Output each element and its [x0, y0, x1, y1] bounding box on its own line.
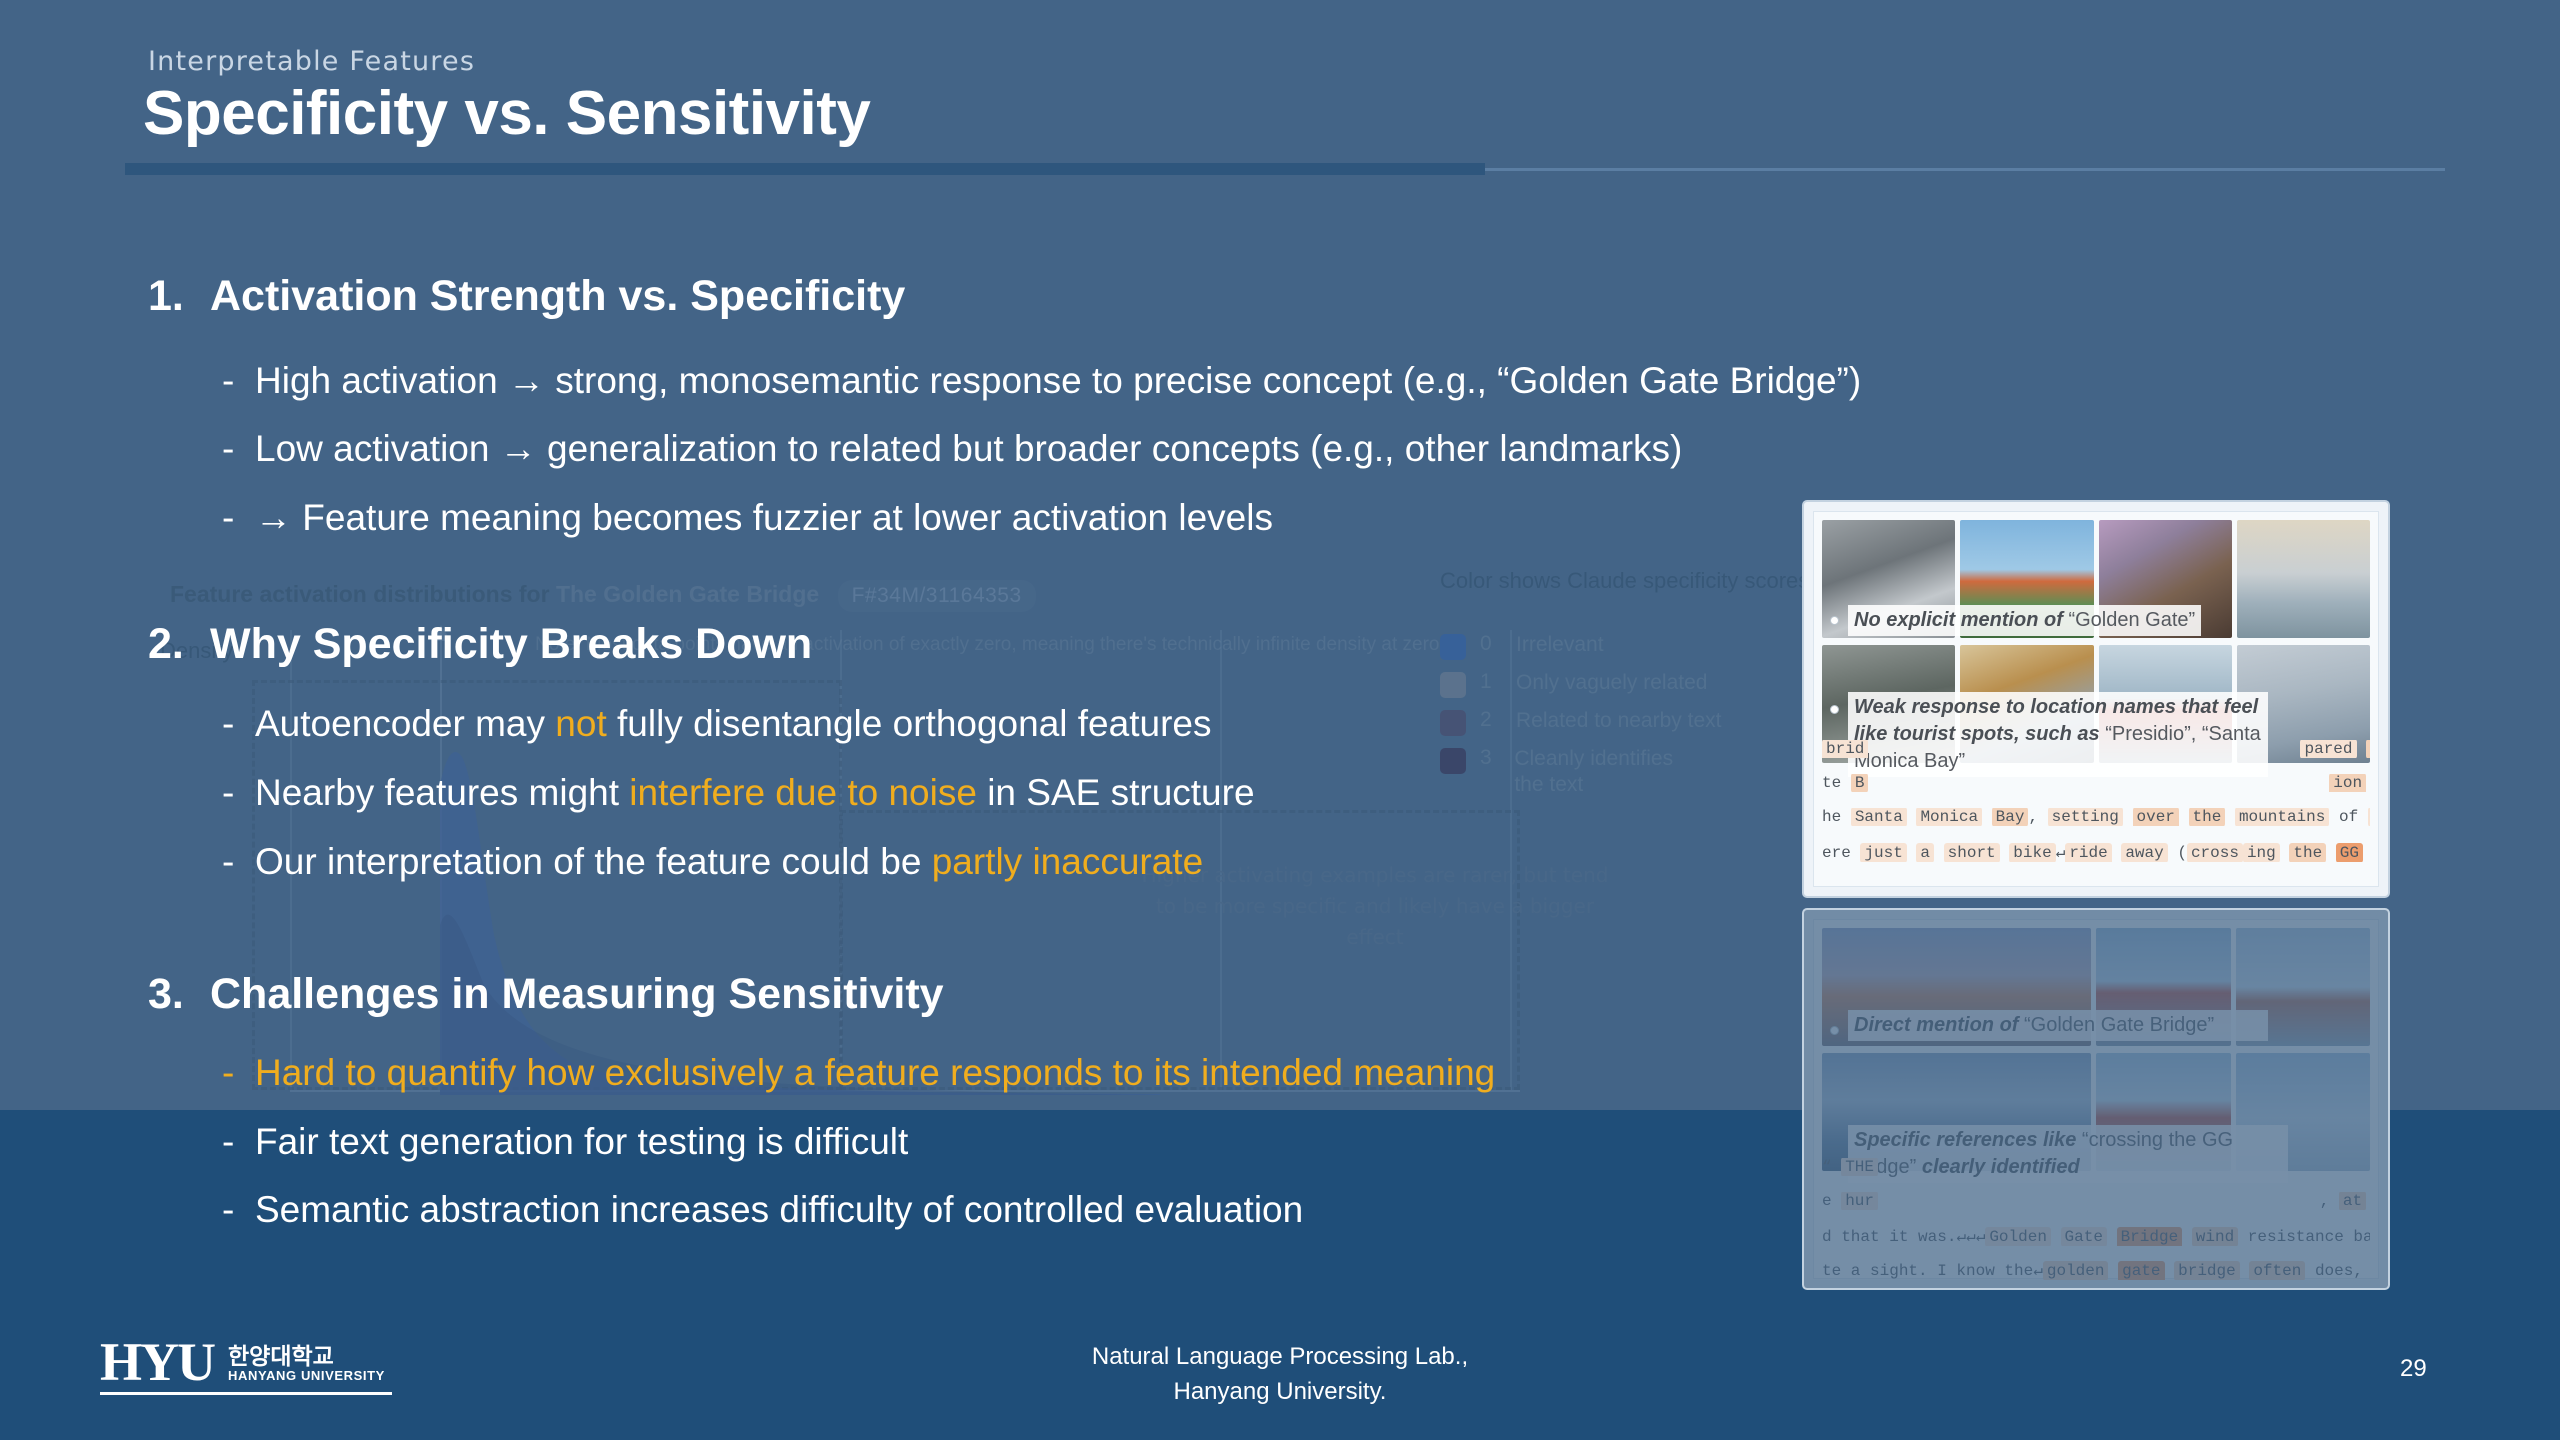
bullet-text-2: in SAE structure — [977, 772, 1255, 813]
bullet-dash: - — [222, 497, 255, 539]
bullet-dash: - — [222, 1121, 255, 1163]
slide-body: 1.Activation Strength vs. Specificity -H… — [0, 0, 2560, 1440]
bullet-text: Autoencoder may — [255, 703, 555, 744]
section-heading-1: 1.Activation Strength vs. Specificity — [148, 272, 905, 321]
bullet-1-3: -→ Feature meaning becomes fuzzier at lo… — [222, 497, 1273, 539]
bullet-text: Hard to quantify how exclusively a featu… — [255, 1052, 1495, 1093]
bullet-text: Low activation → generalization to relat… — [255, 428, 1682, 469]
section-number-3: 3. — [148, 970, 210, 1019]
section-title-2: Why Specificity Breaks Down — [210, 620, 812, 668]
bullet-1-2: -Low activation → generalization to rela… — [222, 428, 1682, 470]
bullet-highlight: interfere due to noise — [629, 772, 977, 813]
bullet-2-2: -Nearby features might interfere due to … — [222, 772, 1255, 814]
bullet-text: Semantic abstraction increases difficult… — [255, 1189, 1303, 1230]
bullet-highlight: partly inaccurate — [932, 841, 1203, 882]
bullet-text: Fair text generation for testing is diff… — [255, 1121, 908, 1162]
slide-header: Interpretable Features Specificity vs. S… — [0, 0, 2560, 180]
bullet-text: → Feature meaning becomes fuzzier at low… — [255, 497, 1273, 538]
section-title-1: Activation Strength vs. Specificity — [210, 272, 905, 320]
eyebrow-label: Interpretable Features — [148, 46, 475, 77]
bullet-text: Nearby features might — [255, 772, 629, 813]
bullet-2-3: -Our interpretation of the feature could… — [222, 841, 1203, 883]
bullet-highlight: not — [555, 703, 606, 744]
section-heading-2: 2.Why Specificity Breaks Down — [148, 620, 812, 669]
header-rule-thick — [125, 163, 1485, 175]
bullet-3-3: -Semantic abstraction increases difficul… — [222, 1189, 1303, 1231]
bullet-2-1: -Autoencoder may not fully disentangle o… — [222, 703, 1211, 745]
bullet-dash: - — [222, 360, 255, 402]
bullet-text: High activation → strong, monosemantic r… — [255, 360, 1861, 401]
bullet-3-1: -Hard to quantify how exclusively a feat… — [222, 1052, 1495, 1094]
section-number-1: 1. — [148, 272, 210, 321]
bullet-dash: - — [222, 1052, 255, 1094]
bullet-3-2: -Fair text generation for testing is dif… — [222, 1121, 908, 1163]
bullet-dash: - — [222, 703, 255, 745]
bullet-dash: - — [222, 1189, 255, 1231]
section-number-2: 2. — [148, 620, 210, 669]
bullet-dash: - — [222, 772, 255, 814]
bullet-text: Our interpretation of the feature could … — [255, 841, 932, 882]
footer-lab-line-2: Hanyang University. — [0, 1375, 2560, 1410]
bullet-dash: - — [222, 428, 255, 470]
bullet-text-2: fully disentangle orthogonal features — [607, 703, 1212, 744]
page-title: Specificity vs. Sensitivity — [143, 78, 870, 149]
footer-lab-line-1: Natural Language Processing Lab., — [0, 1340, 2560, 1375]
section-title-3: Challenges in Measuring Sensitivity — [210, 970, 944, 1018]
footer-lab-name: Natural Language Processing Lab., Hanyan… — [0, 1340, 2560, 1410]
bullet-1-1: -High activation → strong, monosemantic … — [222, 360, 1861, 402]
section-heading-3: 3.Challenges in Measuring Sensitivity — [148, 970, 944, 1019]
bullet-dash: - — [222, 841, 255, 883]
page-number: 29 — [2400, 1355, 2427, 1383]
